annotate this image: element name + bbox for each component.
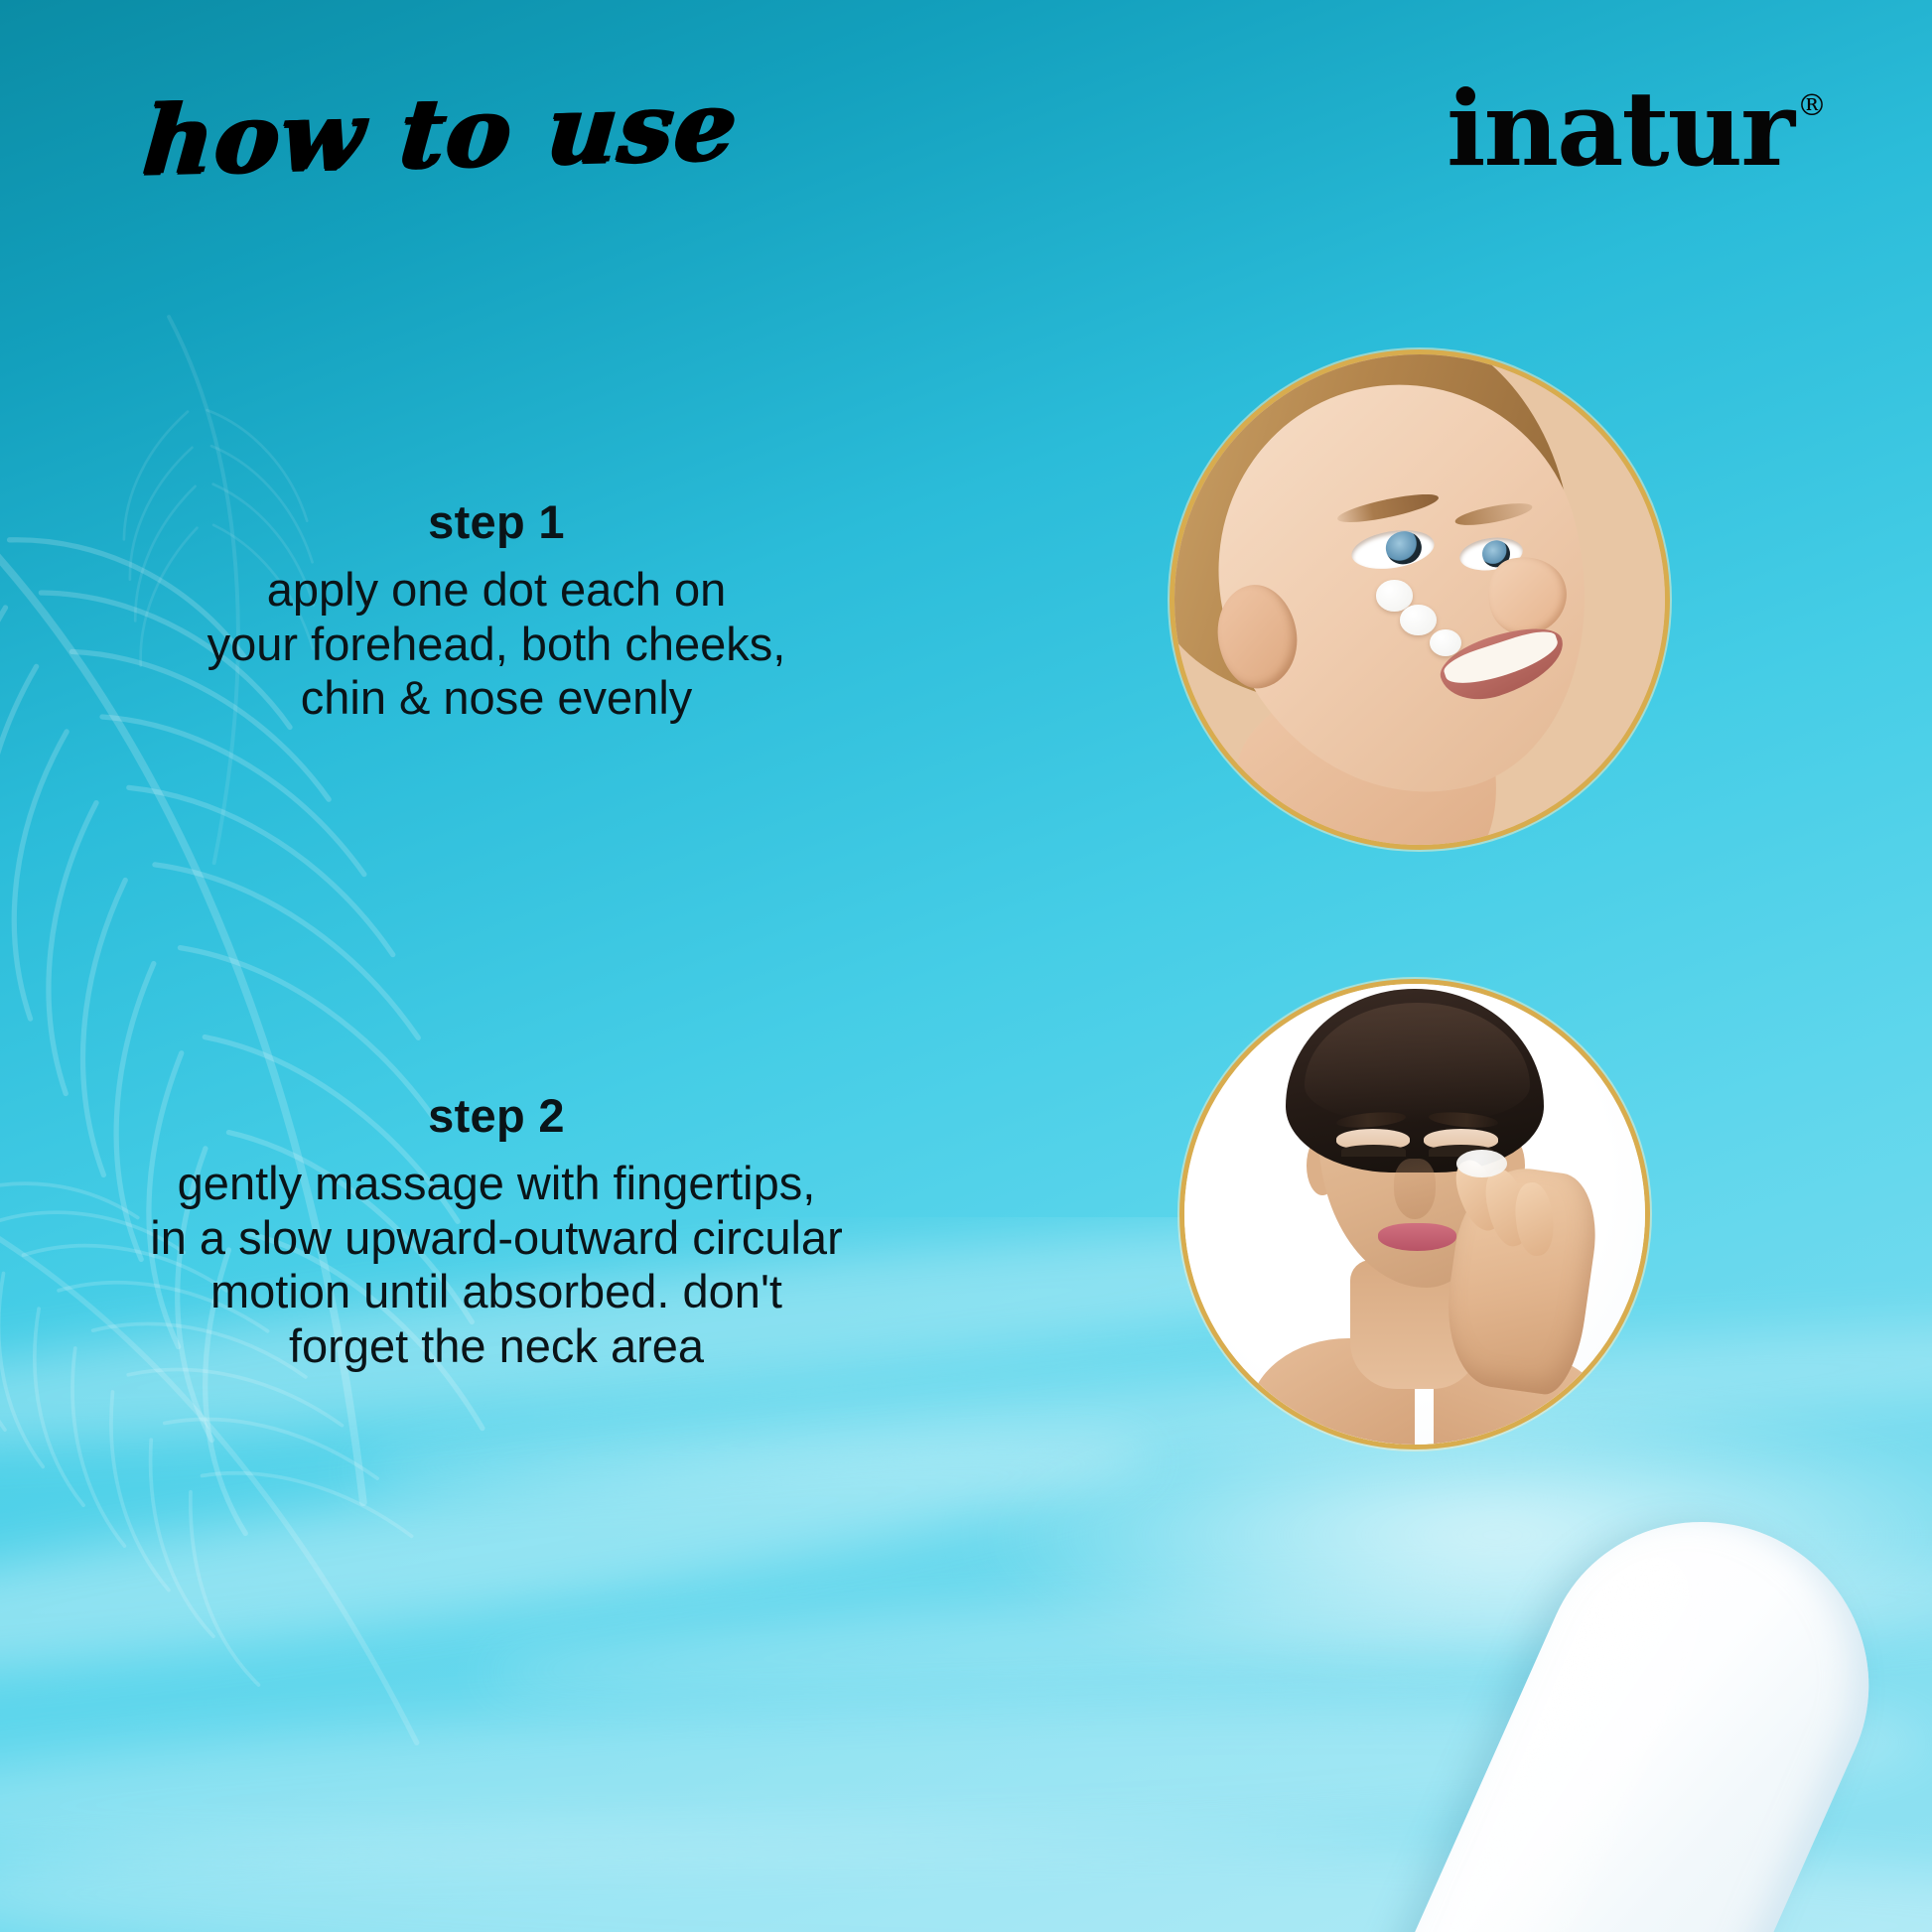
lips-shape <box>1378 1223 1456 1251</box>
nose-shape <box>1394 1159 1436 1218</box>
step-1-line-3: chin & nose evenly <box>109 671 884 726</box>
step-2-heading: step 2 <box>60 1088 933 1143</box>
brand-logo: inatur ® <box>1447 77 1825 181</box>
page-title: how to use <box>139 77 741 189</box>
step-1-photo-art <box>1174 354 1665 845</box>
step-1-heading: step 1 <box>109 494 884 549</box>
registered-trademark-icon: ® <box>1797 91 1825 121</box>
step-1-text: apply one dot each on your forehead, bot… <box>109 563 884 726</box>
step-2-photo <box>1179 979 1650 1449</box>
step-1-block: step 1 apply one dot each on your forehe… <box>109 494 884 726</box>
step-2-line-2: in a slow upward-outward circular <box>60 1211 933 1266</box>
brand-name: inatur <box>1447 77 1793 181</box>
step-1-photo <box>1170 349 1670 850</box>
water-streak <box>0 1396 1160 1728</box>
how-to-use-poster: how to use inatur ® step 1 apply one dot… <box>0 0 1932 1932</box>
step-2-line-3: motion until absorbed. don't <box>60 1265 933 1319</box>
step-2-line-1: gently massage with fingertips, <box>60 1157 933 1211</box>
step-2-text: gently massage with fingertips, in a slo… <box>60 1157 933 1373</box>
step-2-block: step 2 gently massage with fingertips, i… <box>60 1088 933 1373</box>
cream-dot <box>1400 605 1437 635</box>
eyelash-left <box>1341 1145 1406 1157</box>
step-1-line-1: apply one dot each on <box>109 563 884 618</box>
step-1-line-2: your forehead, both cheeks, <box>109 618 884 672</box>
step-2-line-4: forget the neck area <box>60 1319 933 1374</box>
cream-on-fingertips <box>1456 1150 1507 1177</box>
step-2-photo-art <box>1184 984 1645 1445</box>
